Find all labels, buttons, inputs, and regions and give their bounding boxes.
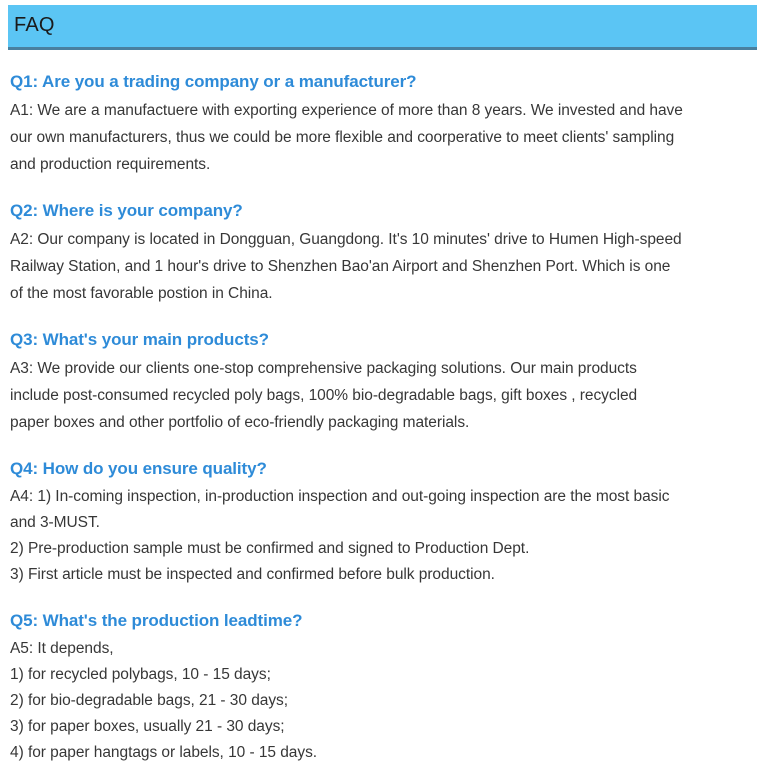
faq-question-q2: Q2: Where is your company? [10,199,755,223]
answer-line: A2: Our company is located in Dongguan, … [10,226,755,253]
faq-section-q4: Q4: How do you ensure quality? A4: 1) In… [10,457,755,588]
answer-line: 2) for bio-degradable bags, 21 - 30 days… [10,688,755,714]
faq-page: FAQ Q1: Are you a trading company or a m… [0,0,765,748]
faq-question-q1: Q1: Are you a trading company or a manuf… [10,70,755,94]
answer-line: 3) for paper boxes, usually 21 - 30 days… [10,714,755,740]
faq-content: Q1: Are you a trading company or a manuf… [10,70,755,766]
answer-line: Railway Station, and 1 hour's drive to S… [10,253,755,280]
answer-line: 2) Pre-production sample must be confirm… [10,536,755,562]
faq-answer-q4: A4: 1) In-coming inspection, in-producti… [10,484,755,588]
faq-answer-q3: A3: We provide our clients one-stop comp… [10,355,755,436]
faq-answer-q5: A5: It depends, 1) for recycled polybags… [10,636,755,766]
faq-section-q3: Q3: What's your main products? A3: We pr… [10,328,755,436]
answer-line: 1) for recycled polybags, 10 - 15 days; [10,662,755,688]
answer-line: A3: We provide our clients one-stop comp… [10,355,755,382]
faq-answer-q1: A1: We are a manufactuere with exporting… [10,97,755,178]
answer-line: A4: 1) In-coming inspection, in-producti… [10,484,755,510]
faq-answer-q2: A2: Our company is located in Dongguan, … [10,226,755,307]
faq-section-q5: Q5: What's the production leadtime? A5: … [10,609,755,766]
faq-question-q4: Q4: How do you ensure quality? [10,457,755,481]
faq-section-q1: Q1: Are you a trading company or a manuf… [10,70,755,178]
answer-line: and production requirements. [10,151,755,178]
answer-line: A1: We are a manufactuere with exporting… [10,97,755,124]
answer-line: A5: It depends, [10,636,755,662]
faq-header-band: FAQ [8,5,757,50]
answer-line: 3) First article must be inspected and c… [10,562,755,588]
answer-line: paper boxes and other portfolio of eco-f… [10,409,755,436]
answer-line: include post-consumed recycled poly bags… [10,382,755,409]
faq-question-q5: Q5: What's the production leadtime? [10,609,755,633]
answer-line: our own manufacturers, thus we could be … [10,124,755,151]
page-title: FAQ [14,12,55,38]
faq-question-q3: Q3: What's your main products? [10,328,755,352]
answer-line: 4) for paper hangtags or labels, 10 - 15… [10,740,755,766]
answer-line: and 3-MUST. [10,510,755,536]
answer-line: of the most favorable postion in China. [10,280,755,307]
faq-section-q2: Q2: Where is your company? A2: Our compa… [10,199,755,307]
